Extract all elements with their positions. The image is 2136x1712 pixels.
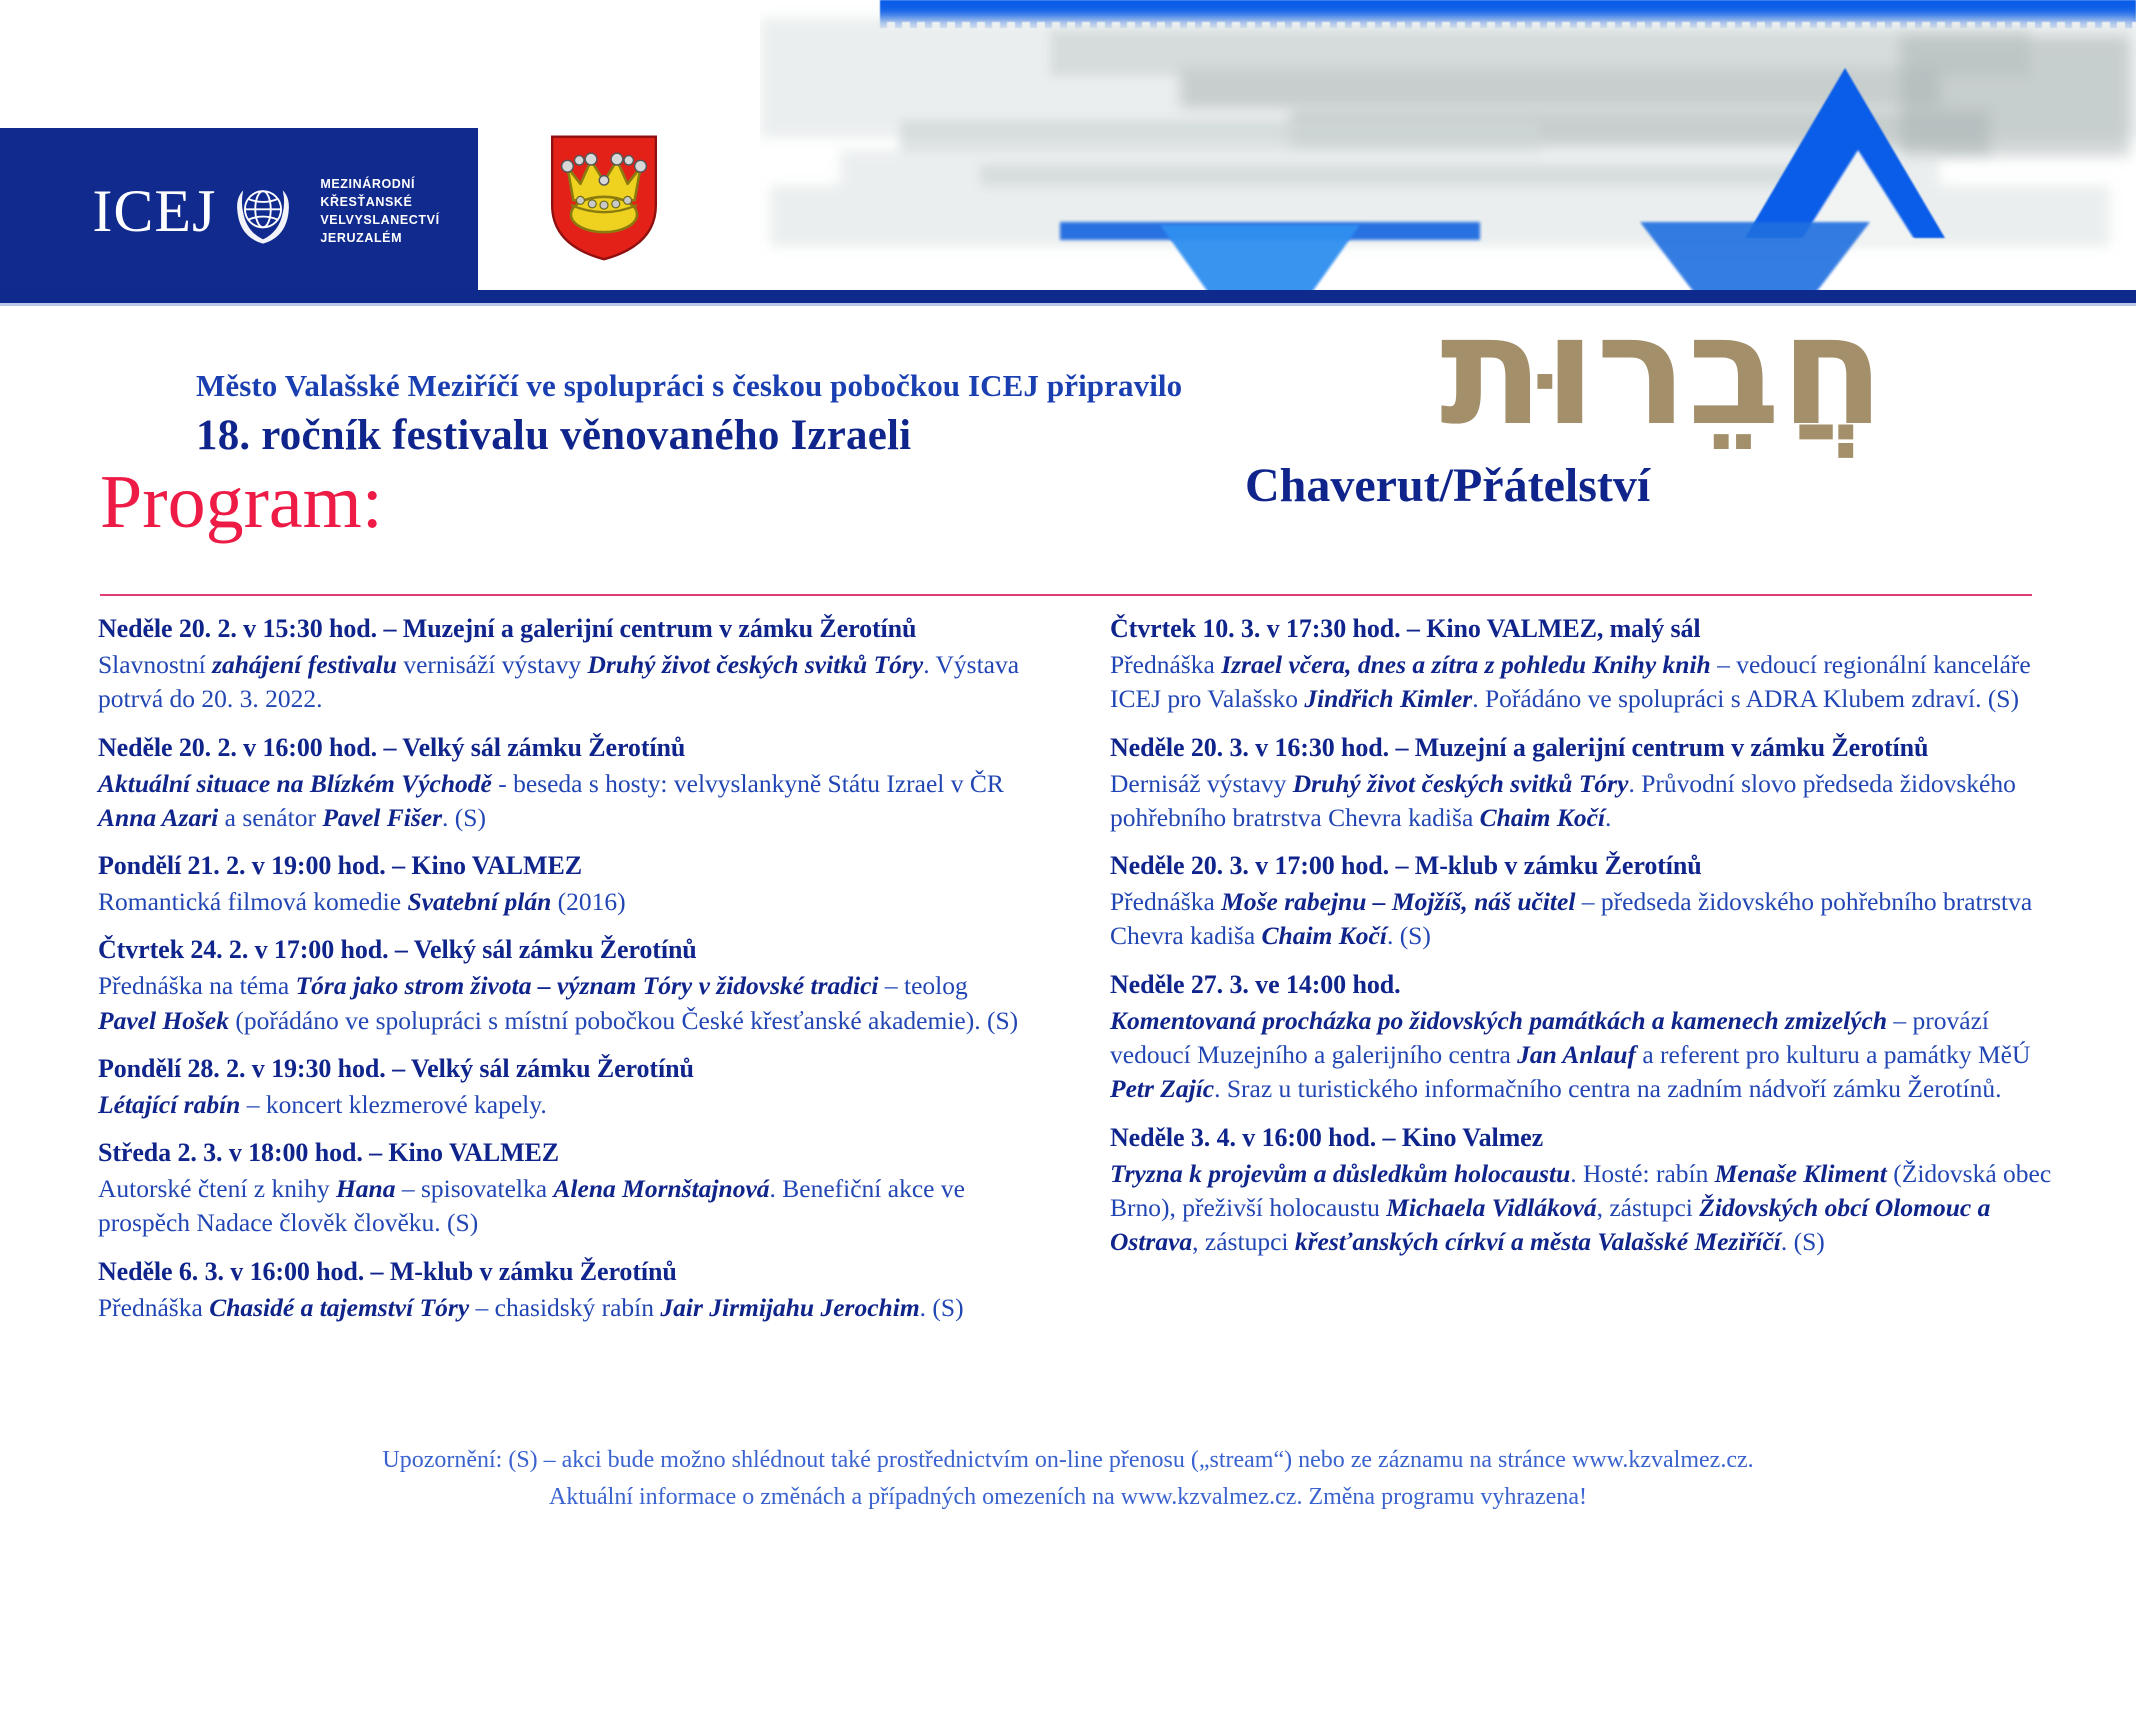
program-event: Pondělí 21. 2. v 19:00 hod. – Kino VALME… [98, 849, 1028, 919]
event-heading: Středa 2. 3. v 18:00 hod. – Kino VALMEZ [98, 1136, 1028, 1171]
page-title: 18. ročník festivalu věnovaného Izraeli [196, 411, 911, 460]
globe-laurel-icon [220, 168, 306, 254]
event-description: Slavnostní zahájení festivalu vernisáží … [98, 648, 1028, 717]
event-heading: Neděle 6. 3. v 16:00 hod. – M-klub v zám… [98, 1255, 1028, 1290]
icej-subtitle: MEZINÁRODNÍ KŘESŤANSKÉ VELVYSLANECTVÍ JE… [320, 175, 439, 248]
event-description: Aktuální situace na Blízkém Východě - be… [98, 767, 1028, 836]
event-heading: Pondělí 28. 2. v 19:30 hod. – Velký sál … [98, 1052, 1028, 1087]
event-description: Přednáška na téma Tóra jako strom života… [98, 969, 1028, 1038]
event-heading: Neděle 3. 4. v 16:00 hod. – Kino Valmez [1110, 1121, 2070, 1156]
hebrew-title: חֲבֵרוּת [1440, 276, 1885, 466]
event-description: Tryzna k projevům a důsledkům holocaustu… [1110, 1157, 2070, 1260]
program-event: Neděle 20. 3. v 17:00 hod. – M-klub v zá… [1110, 849, 2070, 954]
event-description: Dernisáž výstavy Druhý život českých svi… [1110, 767, 2070, 836]
footer-line-2: Aktuální informace o změnách a případnýc… [0, 1479, 2136, 1516]
footer-notes: Upozornění: (S) – akci bude možno shlédn… [0, 1442, 2136, 1516]
event-heading: Neděle 27. 3. ve 14:00 hod. [1110, 968, 2070, 1003]
program-event: Neděle 3. 4. v 16:00 hod. – Kino ValmezT… [1110, 1121, 2070, 1260]
event-description: Komentovaná procházka po židovských pamá… [1110, 1004, 2070, 1107]
hebrew-transliteration: Chaverut/Přátelství [1245, 458, 1650, 513]
top-banner: ICEJ MEZINÁRODNÍ [0, 0, 2136, 290]
program-event: Neděle 6. 3. v 16:00 hod. – M-klub v zám… [98, 1255, 1028, 1325]
program-divider [100, 594, 2032, 596]
star-triangle-down-left [1160, 225, 1360, 290]
kicker-text: Město Valašské Meziříčí ve spolupráci s … [196, 368, 1182, 404]
event-description: Autorské čtení z knihy Hana – spisovatel… [98, 1172, 1028, 1241]
event-heading: Neděle 20. 2. v 15:30 hod. – Muzejní a g… [98, 612, 1028, 647]
program-event: Neděle 20. 2. v 16:00 hod. – Velký sál z… [98, 731, 1028, 836]
event-heading: Neděle 20. 2. v 16:00 hod. – Velký sál z… [98, 731, 1028, 766]
program-column-right: Čtvrtek 10. 3. v 17:30 hod. – Kino VALME… [1110, 612, 2070, 1260]
program-event: Pondělí 28. 2. v 19:30 hod. – Velký sál … [98, 1052, 1028, 1122]
event-heading: Čtvrtek 24. 2. v 17:00 hod. – Velký sál … [98, 933, 1028, 968]
event-heading: Neděle 20. 3. v 17:00 hod. – M-klub v zá… [1110, 849, 2070, 884]
footer-line-1: Upozornění: (S) – akci bude možno shlédn… [0, 1442, 2136, 1479]
program-event: Neděle 27. 3. ve 14:00 hod.Komentovaná p… [1110, 968, 2070, 1107]
program-event: Neděle 20. 2. v 15:30 hod. – Muzejní a g… [98, 612, 1028, 717]
event-description: Přednáška Izrael včera, dnes a zítra z p… [1110, 648, 2070, 717]
program-event: Čtvrtek 10. 3. v 17:30 hod. – Kino VALME… [1110, 612, 2070, 717]
event-description: Přednáška Chasidé a tajemství Tóry – cha… [98, 1291, 1028, 1325]
icej-subtitle-line: VELVYSLANECTVÍ [320, 211, 439, 229]
program-heading: Program: [100, 464, 383, 540]
event-description: Přednáška Moše rabejnu – Mojžíš, náš uči… [1110, 885, 2070, 954]
event-heading: Neděle 20. 3. v 16:30 hod. – Muzejní a g… [1110, 731, 2070, 766]
program-columns: Neděle 20. 2. v 15:30 hod. – Muzejní a g… [0, 612, 2136, 1712]
icej-subtitle-line: KŘESŤANSKÉ [320, 193, 439, 211]
icej-logo-block: ICEJ MEZINÁRODNÍ [0, 128, 478, 290]
event-heading: Čtvrtek 10. 3. v 17:30 hod. – Kino VALME… [1110, 612, 2070, 647]
coat-of-arms-crown-icon [545, 132, 663, 264]
icej-wordmark: ICEJ [92, 181, 216, 241]
program-column-left: Neděle 20. 2. v 15:30 hod. – Muzejní a g… [98, 612, 1028, 1326]
event-heading: Pondělí 21. 2. v 19:00 hod. – Kino VALME… [98, 849, 1028, 884]
program-event: Čtvrtek 24. 2. v 17:00 hod. – Velký sál … [98, 933, 1028, 1038]
event-description: Romantická filmová komedie Svatební plán… [98, 885, 1028, 919]
program-event: Neděle 20. 3. v 16:30 hod. – Muzejní a g… [1110, 731, 2070, 836]
event-description: Létající rabín – koncert klezmerové kape… [98, 1088, 1028, 1122]
program-event: Středa 2. 3. v 18:00 hod. – Kino VALMEZA… [98, 1136, 1028, 1241]
icej-subtitle-line: MEZINÁRODNÍ [320, 175, 439, 193]
icej-subtitle-line: JERUZALÉM [320, 229, 439, 247]
